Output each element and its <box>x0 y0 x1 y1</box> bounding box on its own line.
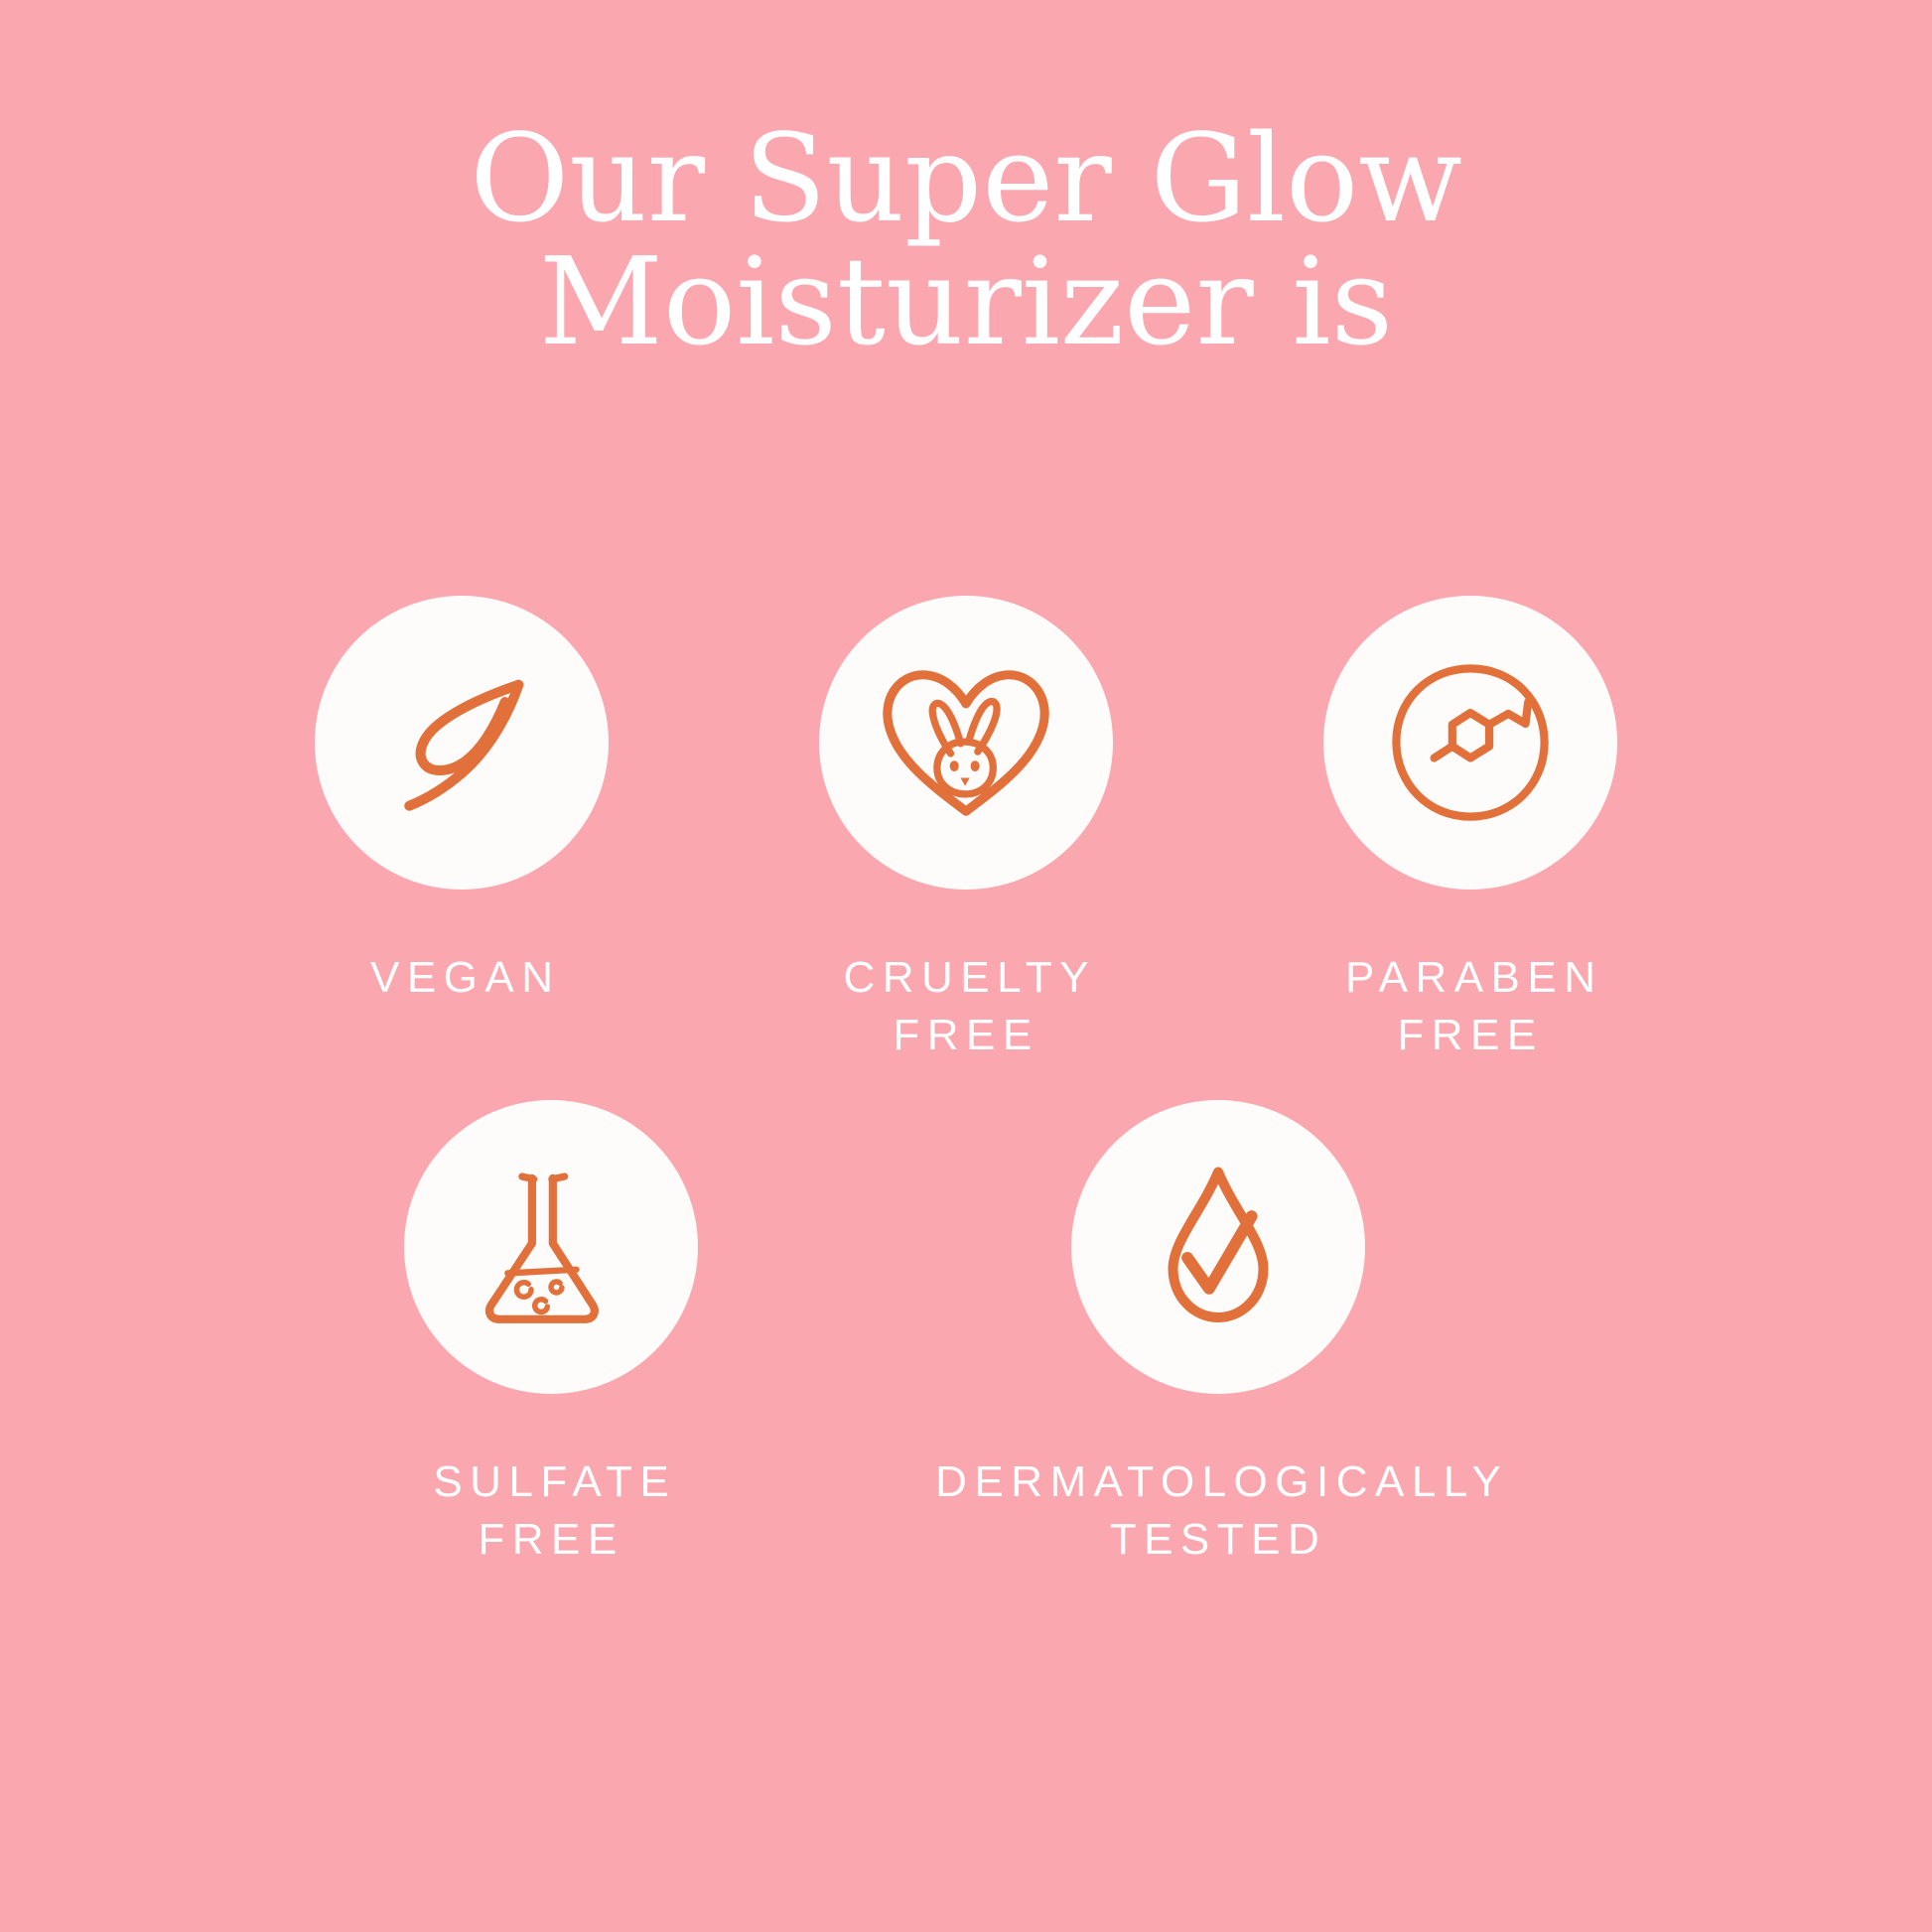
badge-sulfate-free[interactable]: SULFATE FREE <box>396 1100 706 1569</box>
badge-derm-tested-label: DERMATOLOGICALLY TESTED <box>928 1453 1509 1569</box>
badge-row-top: VEGAN <box>0 596 1932 1064</box>
badge-sulfate-free-label: SULFATE FREE <box>426 1453 676 1569</box>
badge-sulfate-free-circle <box>404 1100 698 1394</box>
badge-cruelty-free-circle <box>819 596 1113 890</box>
droplet-check-icon <box>1128 1157 1309 1337</box>
badge-paraben-free[interactable]: PARABEN FREE <box>1315 596 1625 1064</box>
page-title: Our Super Glow Moisturizer is <box>0 117 1932 364</box>
leaf-icon <box>371 652 552 833</box>
badge-vegan-label: VEGAN <box>362 949 560 1007</box>
badge-cruelty-free[interactable]: CRUELTY FREE <box>811 596 1121 1064</box>
badge-cruelty-free-label: CRUELTY FREE <box>836 949 1096 1064</box>
molecule-circle-icon <box>1380 652 1561 833</box>
badge-paraben-free-circle <box>1323 596 1617 890</box>
badge-vegan-circle <box>315 596 609 890</box>
flask-icon <box>461 1157 641 1337</box>
badge-derm-tested-circle <box>1071 1100 1365 1394</box>
badge-derm-tested[interactable]: DERMATOLOGICALLY TESTED <box>900 1100 1536 1569</box>
heart-bunny-icon <box>876 652 1056 833</box>
badge-paraben-free-label: PARABEN FREE <box>1337 949 1602 1064</box>
badge-row-bottom: SULFATE FREE DERMATOLOGICALLY TESTED <box>0 1100 1932 1569</box>
badge-vegan[interactable]: VEGAN <box>307 596 617 1007</box>
promo-graphic: Our Super Glow Moisturizer is VEGAN <box>0 0 1932 1932</box>
